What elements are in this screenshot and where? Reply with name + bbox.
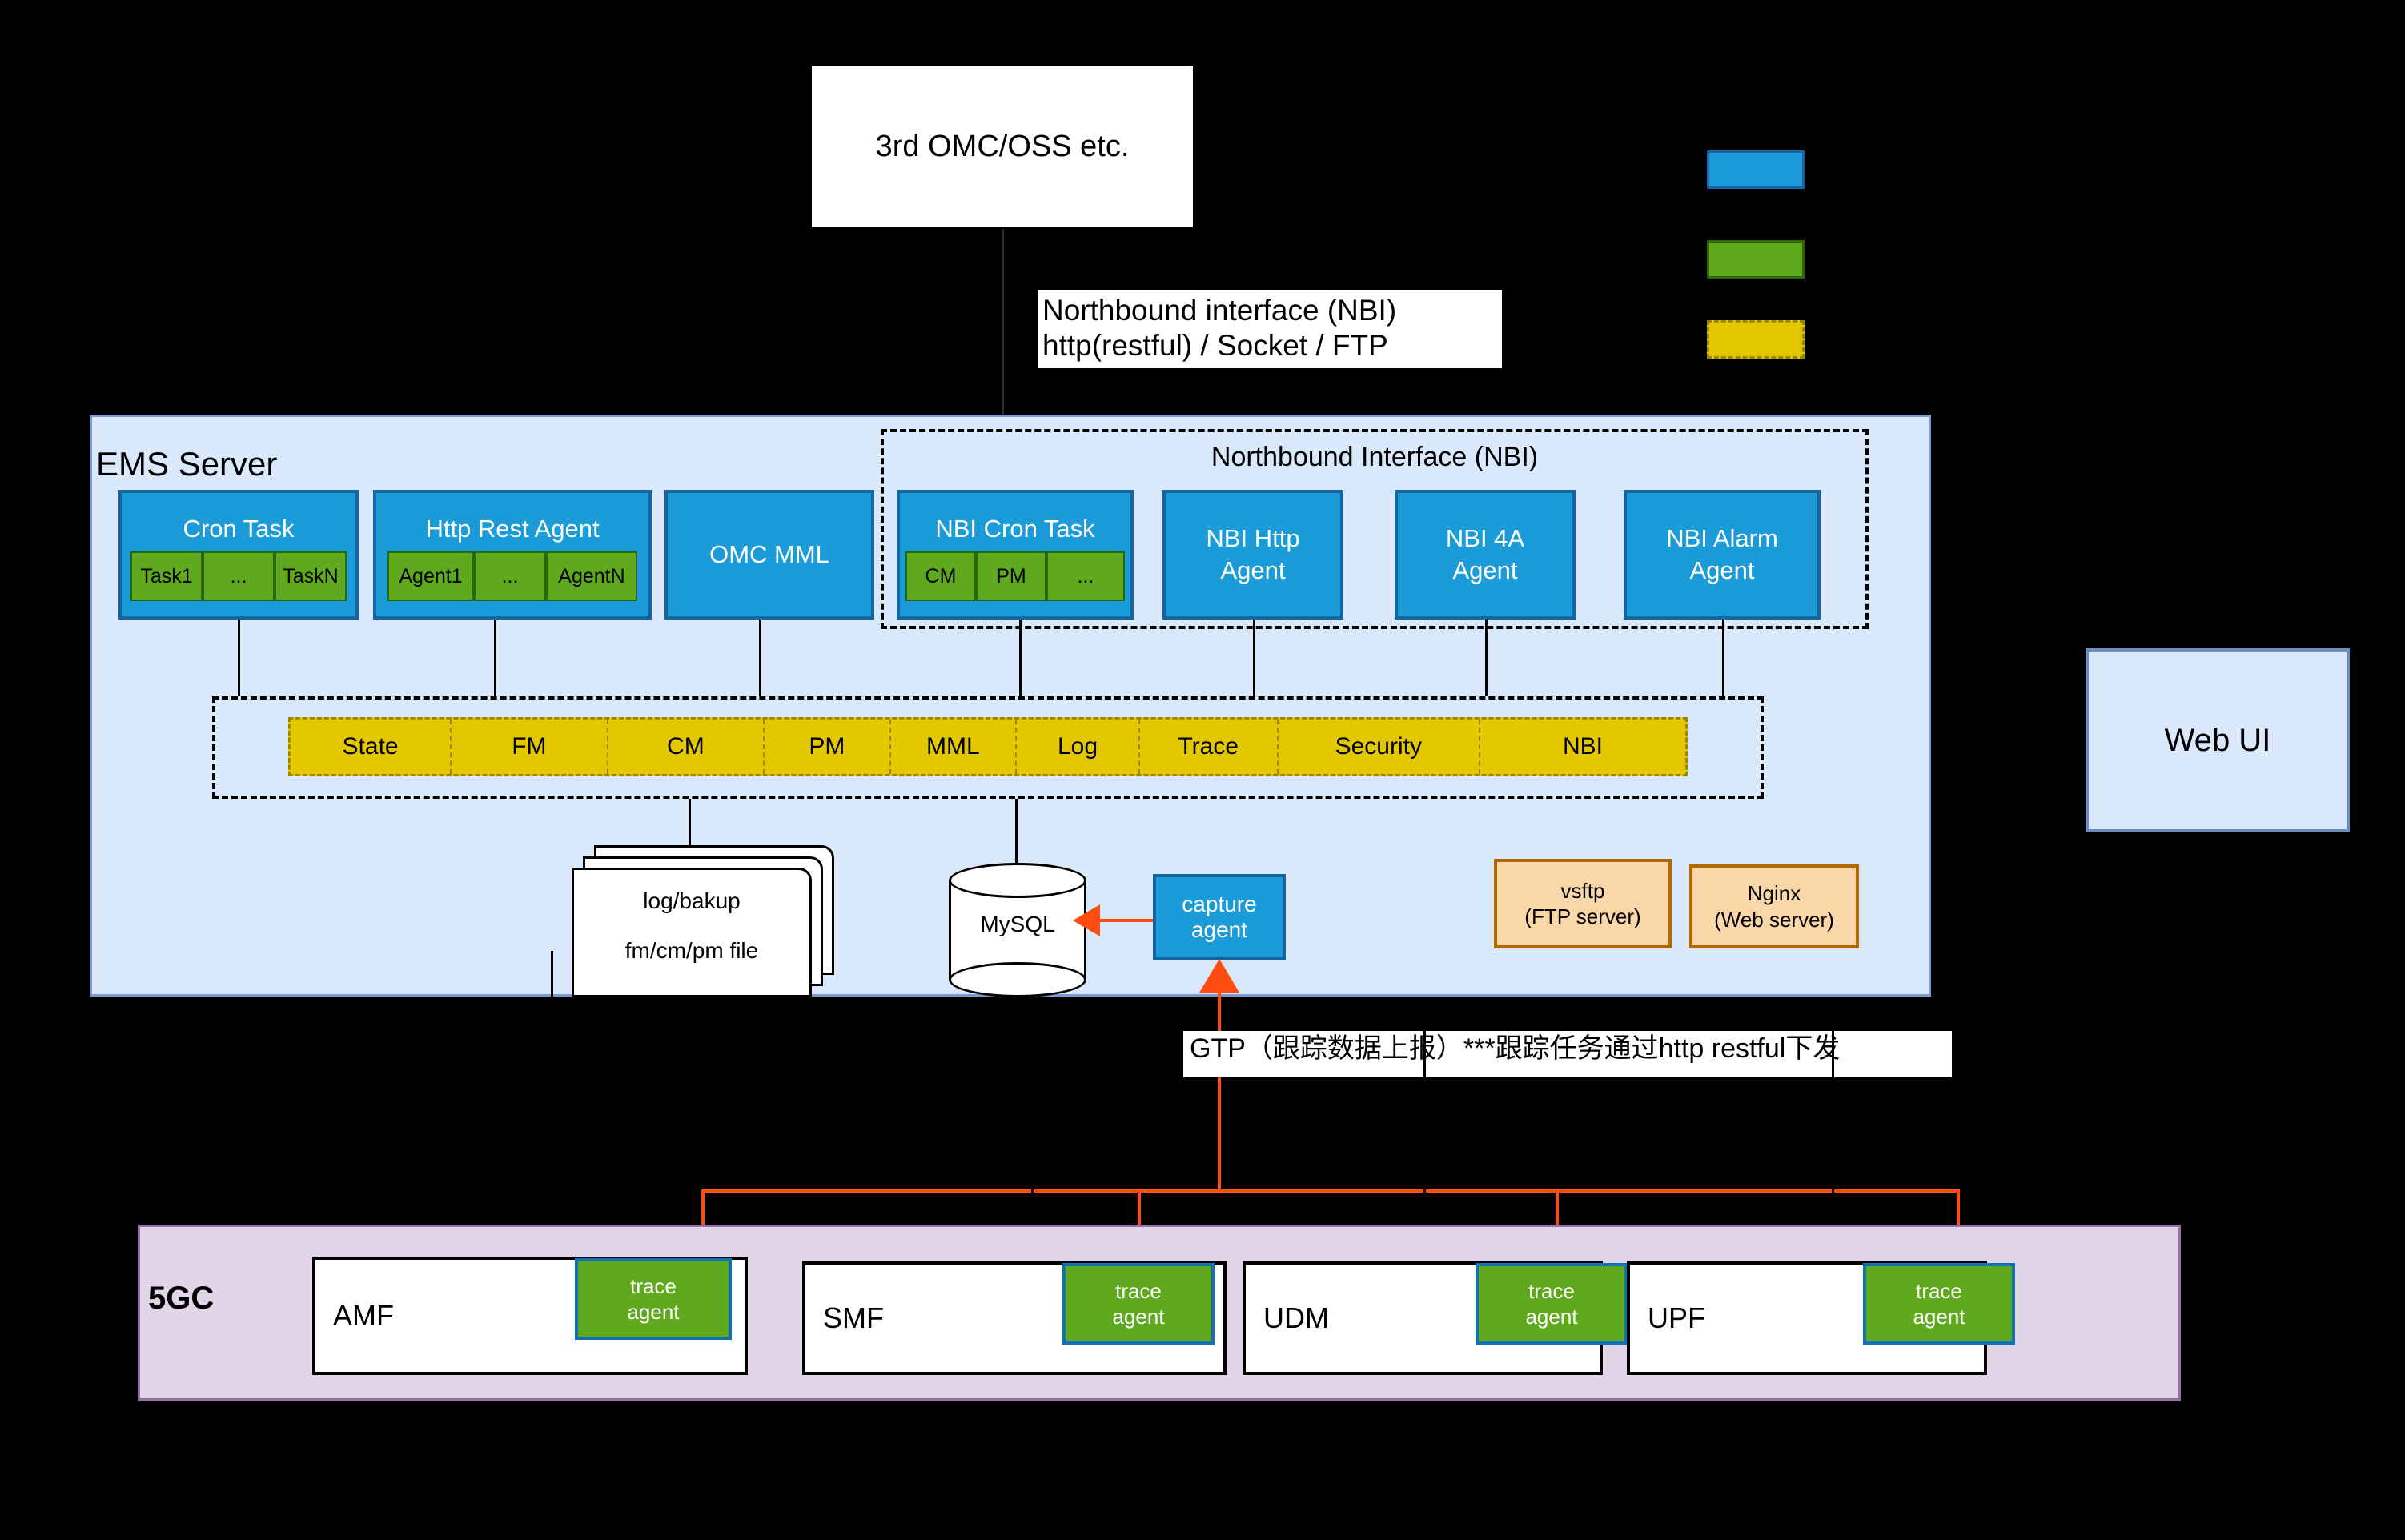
http-rest-agent-cell[interactable]: AgentN [546,551,637,601]
network-function-upf-label: UPF [1648,1301,1705,1335]
server-nginx[interactable]: Nginx (Web server) [1689,864,1859,948]
component-nbi-4a-agent[interactable]: NBI 4AAgent [1395,490,1576,620]
gtp-annotation: GTP（跟踪数据上报）***跟踪任务通过http restful下发 [1183,1031,1952,1077]
nbi-group-title: Northbound Interface (NBI) [881,439,1869,475]
nbi-protocol-note: Northbound interface (NBI) http(restful)… [1038,290,1502,368]
legend-swatch-process [1707,150,1805,189]
component-cron-task[interactable]: Cron Task Task1 ... TaskN [118,490,359,620]
module-segment-log[interactable]: Log [1017,720,1140,774]
trace-agent-udm-line-1: trace [1528,1278,1575,1305]
trace-agent-smf[interactable]: trace agent [1062,1263,1215,1345]
component-nbi-alarm-agent-title: NBI AlarmAgent [1666,523,1778,588]
connector-http-rest-agent-to-modules [494,620,496,696]
connector-modules-to-file-store [689,799,691,847]
file-store-line-1: log/bakup [572,888,812,914]
connector-omc-to-ems [1002,229,1004,416]
trace-bus-horizontal [701,1189,1960,1193]
mysql-database: MySQL [949,863,1086,997]
connector-nbi-4a-agent-to-modules [1485,620,1488,696]
component-omc-mml[interactable]: OMC MML [664,490,874,620]
cron-task-cell[interactable]: Task1 [130,551,203,601]
server-nginx-line-1: Nginx [1748,880,1801,907]
module-segment-mml[interactable]: MML [891,720,1018,774]
nbi-note-line-1: Northbound interface (NBI) [1042,293,1497,328]
network-function-amf-label: AMF [333,1299,394,1333]
web-ui-box[interactable]: Web UI [2086,648,2350,832]
component-cron-task-title: Cron Task [183,515,295,543]
trace-agent-upf[interactable]: trace agent [1863,1263,2015,1345]
connector-cron-task-to-modules [238,620,240,696]
trace-agent-udm[interactable]: trace agent [1476,1263,1628,1345]
capture-agent-line-2: agent [1191,917,1247,943]
component-http-rest-agent[interactable]: Http Rest Agent Agent1 ... AgentN [373,490,652,620]
module-segment-trace[interactable]: Trace [1140,720,1279,774]
cron-task-cell[interactable]: TaskN [275,551,347,601]
module-bar: State FM CM PM MML Log Trace Security NB… [288,717,1688,776]
trace-agent-upf-line-2: agent [1913,1304,1965,1330]
server-nginx-line-2: (Web server) [1714,907,1834,933]
connector-omc-mml-to-modules [759,620,761,696]
capture-agent-line-1: capture [1182,892,1256,917]
component-nbi-http-agent-title: NBI HttpAgent [1206,523,1299,588]
trace-agent-udm-line-2: agent [1525,1304,1577,1330]
file-store-sheet-front [572,868,812,997]
connector-nbi-http-agent-to-modules [1253,620,1255,696]
connector-nbi-alarm-agent-to-modules [1722,620,1724,696]
arrowhead-to-capture-agent [1199,959,1239,993]
connector-capture-agent-to-database [1098,919,1154,922]
server-vsftp-line-1: vsftp [1561,878,1605,904]
http-rest-agent-cell[interactable]: ... [474,551,546,601]
web-ui-label: Web UI [2165,723,2271,759]
module-segment-pm[interactable]: PM [765,720,891,774]
module-segment-fm[interactable]: FM [452,720,608,774]
trace-agent-amf[interactable]: trace agent [575,1258,732,1340]
http-rest-agent-cells: Agent1 ... AgentN [387,551,637,601]
http-rest-agent-cell[interactable]: Agent1 [387,551,474,601]
nbi-cron-task-cell[interactable]: PM [976,551,1046,601]
capture-agent-box[interactable]: capture agent [1153,874,1286,960]
cron-task-cell[interactable]: ... [203,551,275,601]
cron-task-cells: Task1 ... TaskN [130,551,347,601]
legend-swatch-task [1707,240,1805,279]
server-vsftp[interactable]: vsftp (FTP server) [1494,859,1672,948]
third-party-omc-oss-box: 3rd OMC/OSS etc. [810,64,1194,229]
component-nbi-cron-task-title: NBI Cron Task [935,515,1094,543]
module-segment-cm[interactable]: CM [608,720,765,774]
connector-nbi-cron-task-to-modules [1019,620,1022,696]
trace-agent-amf-line-2: agent [627,1299,679,1325]
module-segment-security[interactable]: Security [1279,720,1480,774]
network-function-udm-label: UDM [1263,1301,1329,1335]
component-nbi-alarm-agent[interactable]: NBI AlarmAgent [1624,490,1821,620]
core-network-title: 5GC [148,1281,214,1317]
database-cylinder-top [949,863,1086,898]
trace-agent-amf-line-1: trace [630,1273,677,1300]
module-segment-nbi[interactable]: NBI [1480,720,1685,774]
component-nbi-cron-task[interactable]: NBI Cron Task CM PM ... [897,490,1134,620]
network-function-smf-label: SMF [823,1301,884,1335]
nbi-note-line-2: http(restful) / Socket / FTP [1042,328,1497,363]
component-omc-mml-title: OMC MML [709,540,829,569]
database-label: MySQL [949,912,1086,937]
trace-agent-upf-line-1: trace [1916,1278,1962,1305]
connector-modules-to-database [1015,799,1018,863]
database-cylinder-bottom [949,962,1086,997]
component-nbi-4a-agent-title: NBI 4AAgent [1446,523,1524,588]
gtp-annotation-text: GTP（跟踪数据上报）***跟踪任务通过http restful下发 [1190,1033,1840,1064]
nbi-cron-task-cell[interactable]: CM [905,551,976,601]
nbi-cron-task-cells: CM PM ... [905,551,1125,601]
ems-server-title: EMS Server [96,445,277,483]
file-store-line-2: fm/cm/pm file [572,938,812,964]
server-vsftp-line-2: (FTP server) [1524,904,1640,930]
trace-bus-riser-to-capture-agent [1218,989,1221,1191]
component-http-rest-agent-title: Http Rest Agent [425,515,599,543]
trace-agent-smf-line-2: agent [1112,1304,1164,1330]
component-nbi-http-agent[interactable]: NBI HttpAgent [1162,490,1343,620]
legend-swatch-module [1707,320,1805,359]
trace-agent-smf-line-1: trace [1115,1278,1162,1305]
module-segment-state[interactable]: State [291,720,452,774]
nbi-cron-task-cell[interactable]: ... [1046,551,1125,601]
third-party-omc-oss-label: 3rd OMC/OSS etc. [876,130,1130,164]
